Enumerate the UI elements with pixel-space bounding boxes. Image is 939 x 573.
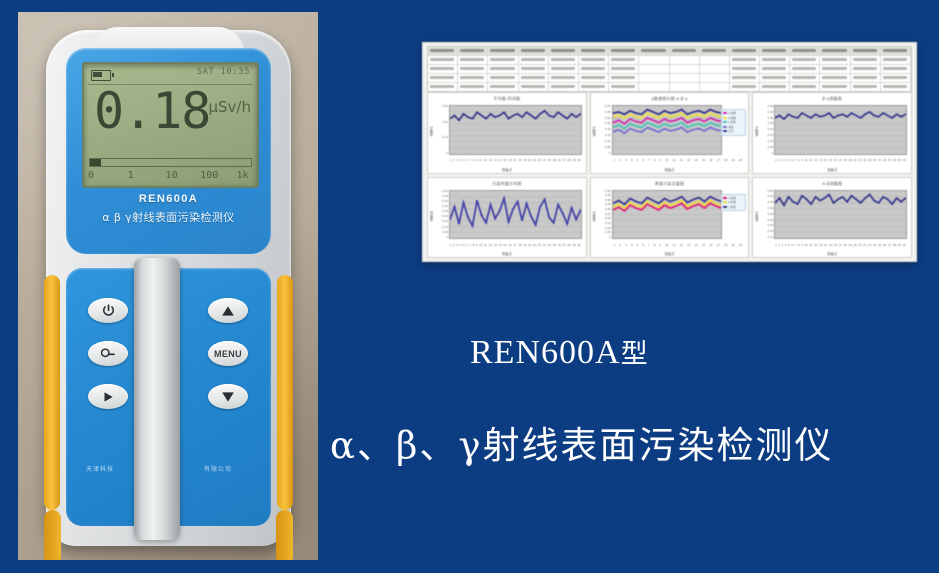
x-tick-label: 1 [450, 243, 452, 247]
y-tick-label: 0.30 [605, 117, 611, 120]
table-cell [670, 83, 700, 91]
x-tick-label: 4 [785, 158, 787, 162]
x-tick-label: 10 [665, 158, 668, 162]
chart-x-axis-label: 测量点 [428, 251, 586, 256]
y-tick-label: 0.15 [767, 134, 773, 137]
table-cell [820, 65, 850, 73]
x-tick-label: 23 [543, 243, 546, 247]
x-tick-label: 4 [460, 158, 462, 162]
table-cell [458, 65, 488, 73]
chart-y-axis-label: 计数率 [592, 126, 597, 136]
table-cell [549, 83, 579, 91]
y-tick-label: 0.40 [767, 105, 773, 108]
chart-grid: 平均值-时间图计数率0.300.200.10012345678910111213… [427, 92, 912, 258]
x-tick-label: 29 [898, 243, 901, 247]
x-tick-label: 7 [648, 243, 650, 247]
x-tick-label: 12 [489, 243, 492, 247]
play-button[interactable] [88, 384, 128, 409]
chart-y-ticks: 0.500.450.400.350.300.250.200.150.100.05… [600, 190, 611, 240]
x-tick-label: 19 [731, 158, 734, 162]
x-tick-label: 14 [499, 158, 502, 162]
chart-x-axis-label: 测量点 [753, 251, 911, 256]
search-button[interactable] [88, 341, 128, 366]
product-photo: SAT 10:35 0.18 µSv/h 0 1 10 100 1k [18, 12, 318, 560]
chart-title: α-β测量图 [753, 181, 911, 187]
menu-button[interactable]: MENU [208, 341, 248, 366]
table-cell [458, 56, 488, 64]
x-tick-label: 23 [868, 243, 871, 247]
y-tick-label: 0 [446, 236, 448, 239]
table-row [428, 65, 911, 74]
table-header-cell [881, 47, 911, 55]
x-tick-label: 15 [503, 243, 506, 247]
table-cell [579, 83, 609, 91]
table-header-cell [670, 47, 700, 55]
x-tick-label: 4 [631, 158, 633, 162]
x-tick-label: 2 [778, 243, 780, 247]
table-cell [790, 65, 820, 73]
y-tick-label: 0.25 [767, 122, 773, 125]
x-tick-label: 23 [543, 158, 546, 162]
x-tick-label: 3 [782, 158, 784, 162]
x-tick-label: 22 [863, 243, 866, 247]
hand-strap [134, 258, 180, 540]
y-tick-label: 0.05 [442, 231, 448, 234]
x-tick-label: 6 [642, 243, 644, 247]
y-tick-label: 0.15 [605, 134, 611, 137]
x-tick-label: 1 [614, 243, 616, 247]
chart-panel: 污染剂量分布图剂量率0.450.400.350.300.250.200.150.… [427, 177, 587, 259]
chart-x-ticks: 1234567891011121314151617181920 [612, 157, 745, 164]
x-tick-label: 14 [824, 158, 827, 162]
table-cell [700, 74, 730, 82]
device-model-label: REN600A [66, 193, 271, 205]
table-cell [549, 74, 579, 82]
x-tick-label: 26 [883, 243, 886, 247]
x-tick-label: 7 [795, 158, 797, 162]
legend-label: β 射线 [728, 200, 735, 204]
x-tick-label: 3 [456, 158, 458, 162]
data-table [427, 46, 912, 92]
chart-y-ticks: 0.500.450.400.350.300.250.200.150.10 [762, 190, 773, 240]
table-cell [488, 74, 518, 82]
table-cell [700, 56, 730, 64]
chart-plot-area [449, 190, 582, 240]
table-header-cell [428, 47, 458, 55]
x-tick-label: 10 [665, 243, 668, 247]
y-tick-label: 0.30 [767, 117, 773, 120]
caption-model-suffix: 型 [621, 339, 649, 370]
x-tick-label: 26 [558, 158, 561, 162]
lcd-bargraph [89, 158, 252, 167]
x-tick-label: 25 [878, 243, 881, 247]
table-row [428, 74, 911, 83]
lcd-status-text: SAT 10:35 [197, 67, 250, 77]
legend-label: γ 射线 [728, 205, 735, 209]
x-tick-label: 16 [834, 243, 837, 247]
x-tick-label: 4 [460, 243, 462, 247]
x-tick-label: 5 [637, 243, 639, 247]
down-button[interactable] [208, 384, 248, 409]
x-tick-label: 29 [572, 243, 575, 247]
x-tick-label: 8 [473, 243, 475, 247]
y-tick-label: 0.35 [767, 111, 773, 114]
table-cell [519, 65, 549, 73]
x-tick-label: 17 [717, 158, 720, 162]
x-tick-label: 8 [473, 158, 475, 162]
legend-item: γ 射线 [723, 205, 744, 210]
x-tick-label: 29 [898, 158, 901, 162]
legend-swatch [723, 206, 727, 208]
lcd-reading-value: 0.18 [94, 86, 210, 136]
y-tick-label: 0.10 [767, 140, 773, 143]
chart-panel: 平均值-时间图计数率0.300.200.10012345678910111213… [427, 92, 587, 174]
x-tick-label: 20 [528, 158, 531, 162]
x-tick-label: 20 [739, 243, 742, 247]
x-tick-label: 1 [450, 158, 452, 162]
x-tick-label: 27 [562, 158, 565, 162]
x-tick-label: 23 [868, 158, 871, 162]
x-tick-label: 3 [782, 243, 784, 247]
x-tick-label: 1 [775, 158, 777, 162]
table-header-cell [639, 47, 669, 55]
table-cell [700, 65, 730, 73]
table-header-cell [519, 47, 549, 55]
y-tick-label: 0.05 [605, 146, 611, 149]
grip-tip-right [276, 510, 293, 560]
grip-tip-left [44, 510, 61, 560]
chart-y-axis-label: 计数率 [754, 211, 759, 221]
table-cell [458, 74, 488, 82]
x-tick-label: 9 [801, 158, 803, 162]
y-tick-label: 0.25 [767, 219, 773, 222]
x-tick-label: 28 [893, 243, 896, 247]
chart-x-ticks: 1234567891011121314151617181920212223242… [774, 241, 907, 248]
table-cell [670, 56, 700, 64]
x-tick-label: 17 [839, 158, 842, 162]
table-header-cell [790, 47, 820, 55]
x-tick-label: 17 [513, 243, 516, 247]
x-tick-label: 16 [709, 243, 712, 247]
table-cell [639, 65, 669, 73]
y-tick-label: 0.20 [767, 128, 773, 131]
y-tick-label: 0.50 [605, 190, 611, 193]
chart-x-ticks: 1234567891011121314151617181920 [612, 241, 745, 248]
legend-label: α 射线 [728, 111, 735, 115]
x-tick-label: 12 [814, 158, 817, 162]
device-chinese-label: α β γ射线表面污染检测仪 [66, 209, 271, 225]
lcd-scale-tick-4: 1k [237, 170, 249, 181]
table-cell [549, 65, 579, 73]
x-tick-label: 19 [523, 158, 526, 162]
table-cell [851, 74, 881, 82]
x-tick-label: 22 [538, 243, 541, 247]
x-tick-label: 7 [469, 158, 471, 162]
y-tick-label: 0.20 [605, 217, 611, 220]
x-tick-label: 6 [791, 243, 793, 247]
chart-y-ticks: 0.400.350.300.250.200.150.100.050 [762, 105, 773, 155]
y-tick-label: 0.25 [605, 122, 611, 125]
x-tick-label: 24 [548, 158, 551, 162]
x-tick-label: 29 [572, 158, 575, 162]
table-header-cell [579, 47, 609, 55]
table-cell [519, 56, 549, 64]
x-tick-label: 7 [648, 158, 650, 162]
lcd-unit-label: µSv/h [208, 98, 251, 116]
y-tick-label: 0.45 [605, 194, 611, 197]
magnifier-icon [100, 347, 116, 361]
x-tick-label: 18 [844, 158, 847, 162]
table-cell [760, 56, 790, 64]
y-tick-label: 0.15 [767, 230, 773, 233]
legend-label: γ 射线 [728, 120, 735, 124]
chart-title: γ能谱统计图 α-β-γ [591, 96, 749, 102]
x-tick-label: 15 [702, 158, 705, 162]
table-header-cell [458, 47, 488, 55]
x-tick-label: 10 [804, 158, 807, 162]
x-tick-label: 22 [538, 158, 541, 162]
x-tick-label: 21 [858, 158, 861, 162]
table-cell [609, 65, 639, 73]
x-tick-label: 18 [844, 243, 847, 247]
battery-icon [91, 70, 111, 81]
caption-model-text: REN600A [470, 334, 621, 371]
x-tick-label: 30 [903, 243, 906, 247]
table-cell [609, 74, 639, 82]
table-cell [579, 74, 609, 82]
x-tick-label: 8 [798, 158, 800, 162]
grip-right [277, 275, 293, 510]
table-cell [881, 65, 911, 73]
x-tick-label: 28 [567, 243, 570, 247]
legend-swatch [723, 121, 727, 123]
y-tick-label: 0.40 [605, 105, 611, 108]
x-tick-label: 4 [785, 243, 787, 247]
table-cell [730, 74, 760, 82]
table-cell [639, 83, 669, 91]
y-tick-label: 0.05 [605, 231, 611, 234]
caption-description-line: α、β、γ射线表面污染检测仪 [330, 415, 834, 469]
x-tick-label: 6 [466, 243, 468, 247]
y-tick-label: 0.10 [442, 136, 448, 139]
chart-legend: α 射线β 射线γ 射线 [721, 194, 746, 212]
x-tick-label: 14 [499, 243, 502, 247]
x-tick-label: 2 [453, 158, 455, 162]
lcd-bargraph-fill [90, 159, 101, 166]
x-tick-label: 5 [788, 158, 790, 162]
table-cell [579, 65, 609, 73]
y-tick-label: 0.10 [605, 140, 611, 143]
x-tick-label: 7 [469, 243, 471, 247]
table-cell [881, 56, 911, 64]
y-tick-label: 0.20 [605, 128, 611, 131]
chart-panel: 表面污染总量图计数率0.500.450.400.350.300.250.200.… [590, 177, 750, 259]
legend-label: 本底 [728, 125, 733, 129]
chart-title: 表面污染总量图 [591, 181, 749, 187]
x-tick-label: 14 [694, 243, 697, 247]
chart-y-ticks: 0.400.350.300.250.200.150.100.050 [600, 105, 611, 155]
x-tick-label: 13 [687, 243, 690, 247]
y-tick-label: 0.20 [442, 121, 448, 124]
table-cell [519, 83, 549, 91]
legend-swatch [723, 112, 727, 114]
x-tick-label: 13 [494, 243, 497, 247]
x-tick-label: 9 [476, 158, 478, 162]
x-tick-label: 27 [562, 243, 565, 247]
legend-swatch [723, 117, 727, 119]
table-header-cell [760, 47, 790, 55]
y-tick-label: 0.15 [442, 220, 448, 223]
x-tick-label: 18 [724, 243, 727, 247]
y-tick-label: 0.35 [605, 111, 611, 114]
table-cell [730, 83, 760, 91]
x-tick-label: 3 [625, 158, 627, 162]
table-header-cell [730, 47, 760, 55]
table-row [428, 56, 911, 65]
table-cell [488, 65, 518, 73]
x-tick-label: 30 [577, 158, 580, 162]
table-cell [820, 83, 850, 91]
legend-item: 合计 [723, 129, 744, 134]
y-tick-label: 0.15 [605, 222, 611, 225]
y-tick-label: 0.30 [442, 205, 448, 208]
table-cell [851, 83, 881, 91]
x-tick-label: 2 [778, 158, 780, 162]
y-tick-label: 0.40 [605, 199, 611, 202]
chart-y-axis-label: 计数率 [429, 126, 434, 136]
x-tick-label: 7 [795, 243, 797, 247]
x-tick-label: 25 [553, 158, 556, 162]
table-cell [428, 74, 458, 82]
x-tick-label: 14 [824, 243, 827, 247]
table-cell [881, 83, 911, 91]
table-cell [609, 83, 639, 91]
table-cell [639, 56, 669, 64]
x-tick-label: 9 [659, 158, 661, 162]
x-tick-label: 18 [724, 158, 727, 162]
legend-label: 合计 [728, 129, 733, 133]
legend-swatch [723, 130, 727, 132]
x-tick-label: 30 [903, 158, 906, 162]
legend-swatch [723, 197, 727, 199]
caption-model-line: REN600A型 [470, 332, 649, 372]
x-tick-label: 1 [775, 243, 777, 247]
x-tick-label: 14 [694, 158, 697, 162]
x-tick-label: 26 [558, 243, 561, 247]
table-cell [670, 65, 700, 73]
table-header-cell [609, 47, 639, 55]
table-header-cell [549, 47, 579, 55]
table-cell [519, 74, 549, 82]
table-cell [851, 56, 881, 64]
x-tick-label: 11 [673, 158, 676, 162]
x-tick-label: 5 [637, 158, 639, 162]
y-tick-label: 0.45 [442, 190, 448, 193]
x-tick-label: 26 [883, 158, 886, 162]
y-tick-label: 0.35 [767, 207, 773, 210]
x-tick-label: 20 [528, 243, 531, 247]
table-cell [670, 74, 700, 82]
menu-button-label: MENU [214, 349, 242, 359]
chart-title: 平均值-时间图 [428, 96, 586, 102]
legend-label: α 射线 [728, 196, 735, 200]
x-tick-label: 27 [888, 158, 891, 162]
y-tick-label: 0.25 [442, 210, 448, 213]
chart-y-axis-label: 计数率 [592, 211, 597, 221]
lcd-scale-tick-0: 0 [88, 170, 94, 181]
y-tick-label: 0.30 [767, 213, 773, 216]
table-header-cell [820, 47, 850, 55]
x-tick-label: 20 [739, 158, 742, 162]
x-tick-label: 17 [513, 158, 516, 162]
chart-x-ticks: 1234567891011121314151617181920212223242… [449, 241, 582, 248]
analysis-software-screenshot: 平均值-时间图计数率0.300.200.10012345678910111213… [422, 42, 917, 262]
up-button[interactable] [208, 298, 248, 323]
table-cell [428, 65, 458, 73]
x-tick-label: 12 [680, 158, 683, 162]
y-tick-label: 0.35 [442, 200, 448, 203]
chart-y-axis-label: 计数率 [754, 126, 759, 136]
table-cell [609, 56, 639, 64]
x-tick-label: 10 [479, 243, 482, 247]
slide-canvas: SAT 10:35 0.18 µSv/h 0 1 10 100 1k [0, 0, 939, 573]
x-tick-label: 30 [577, 243, 580, 247]
y-tick-label: 0.40 [767, 201, 773, 204]
x-tick-label: 20 [853, 158, 856, 162]
chart-legend: α 射线β 射线γ 射线本底合计 [721, 109, 746, 136]
y-tick-label: 0.35 [605, 203, 611, 206]
x-tick-label: 11 [673, 243, 676, 247]
y-tick-label: 0.30 [442, 105, 448, 108]
lcd-scale-tick-2: 10 [166, 170, 178, 181]
x-tick-label: 11 [809, 158, 812, 162]
x-tick-label: 24 [548, 243, 551, 247]
x-tick-label: 21 [533, 158, 536, 162]
x-tick-label: 5 [463, 158, 465, 162]
y-tick-label: 0.05 [767, 146, 773, 149]
chart-plot-area [774, 105, 907, 155]
chart-x-ticks: 1234567891011121314151617181920212223242… [774, 157, 907, 164]
x-tick-label: 28 [567, 158, 570, 162]
chart-plot-area [774, 190, 907, 240]
legend-label: β 射线 [728, 116, 735, 120]
x-tick-label: 13 [819, 158, 822, 162]
x-tick-label: 2 [619, 243, 621, 247]
x-tick-label: 10 [479, 158, 482, 162]
x-tick-label: 16 [508, 158, 511, 162]
lcd-screen: SAT 10:35 0.18 µSv/h 0 1 10 100 1k [82, 62, 259, 188]
chart-plot-area [449, 105, 582, 155]
chart-x-ticks: 1234567891011121314151617181920212223242… [449, 157, 582, 164]
y-tick-label: 0.40 [442, 195, 448, 198]
y-tick-label: 0 [609, 152, 611, 155]
power-button[interactable] [88, 298, 128, 323]
x-tick-label: 25 [553, 243, 556, 247]
x-tick-label: 8 [654, 158, 656, 162]
chart-x-axis-label: 测量点 [591, 167, 749, 172]
x-tick-label: 15 [503, 158, 506, 162]
chart-plot-area [612, 105, 723, 155]
table-cell [549, 56, 579, 64]
y-tick-label: 0.30 [605, 208, 611, 211]
x-tick-label: 9 [659, 243, 661, 247]
handheld-detector-device: SAT 10:35 0.18 µSv/h 0 1 10 100 1k [46, 30, 291, 546]
x-tick-label: 11 [484, 158, 487, 162]
x-tick-label: 19 [523, 243, 526, 247]
x-tick-label: 17 [717, 243, 720, 247]
table-header-cell [851, 47, 881, 55]
x-tick-label: 24 [873, 158, 876, 162]
